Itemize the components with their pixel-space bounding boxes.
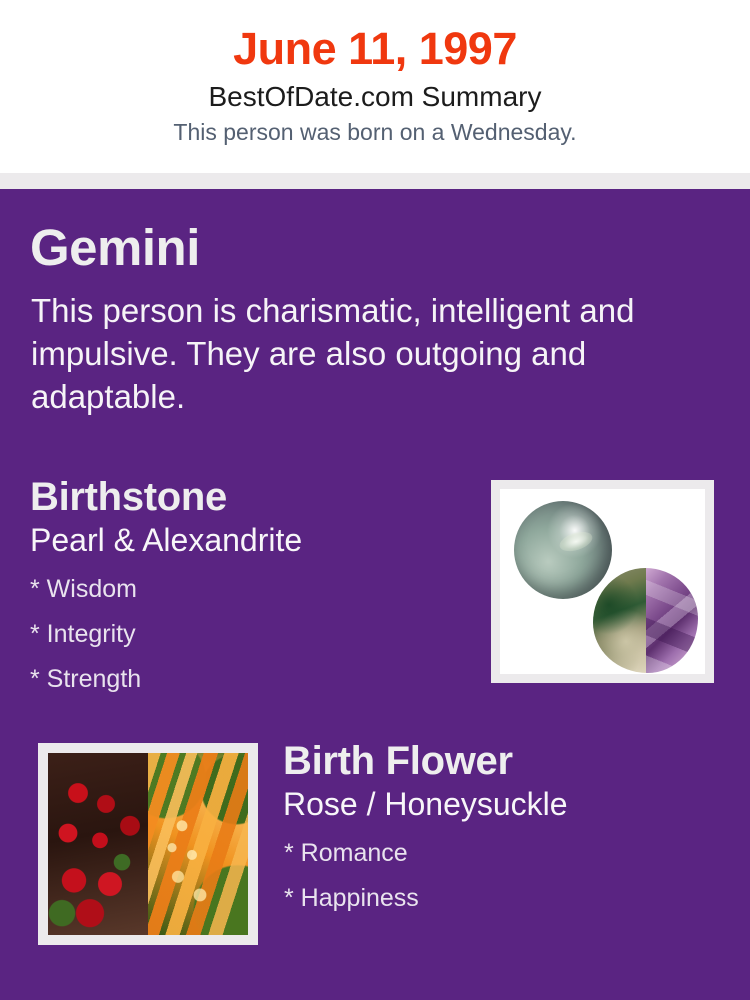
header: June 11, 1997 BestOfDate.com Summary Thi… [0,0,750,173]
honeysuckle-photo-half [148,753,248,935]
alexandrite-faceted-half [646,568,699,673]
infographic-page: June 11, 1997 BestOfDate.com Summary Thi… [0,0,750,1000]
birth-flower-trait-list: * Romance * Happiness [283,831,723,921]
page-title-date: June 11, 1997 [0,22,750,76]
alexandrite-gem-icon [593,568,698,673]
zodiac-sign-name: Gemini [30,219,200,277]
day-of-week-line: This person was born on a Wednesday. [0,117,750,148]
birth-flower-title: Birth Flower [283,737,723,785]
list-item: * Integrity [30,612,460,657]
birthstone-block: Birthstone Pearl & Alexandrite * Wisdom … [30,473,460,702]
header-divider [0,173,750,189]
list-item: * Strength [30,657,460,702]
list-item: * Romance [284,831,723,876]
list-item: * Wisdom [30,567,460,612]
alexandrite-rough-half [593,568,646,673]
list-item: * Happiness [284,876,723,921]
birth-flower-block: Birth Flower Rose / Honeysuckle * Romanc… [283,737,723,921]
birthstone-image-frame [491,480,714,683]
birthstone-trait-list: * Wisdom * Integrity * Strength [30,567,460,702]
birth-flower-image-frame [38,743,258,945]
birthstone-title: Birthstone [30,473,460,521]
birthstone-value: Pearl & Alexandrite [30,520,460,560]
birthstone-photo [500,489,705,674]
birth-flower-photo [48,753,248,935]
zodiac-description: This person is charismatic, intelligent … [31,289,701,418]
site-name: BestOfDate.com Summary [0,79,750,115]
roses-photo-half [48,753,148,935]
birth-flower-value: Rose / Honeysuckle [283,784,723,824]
